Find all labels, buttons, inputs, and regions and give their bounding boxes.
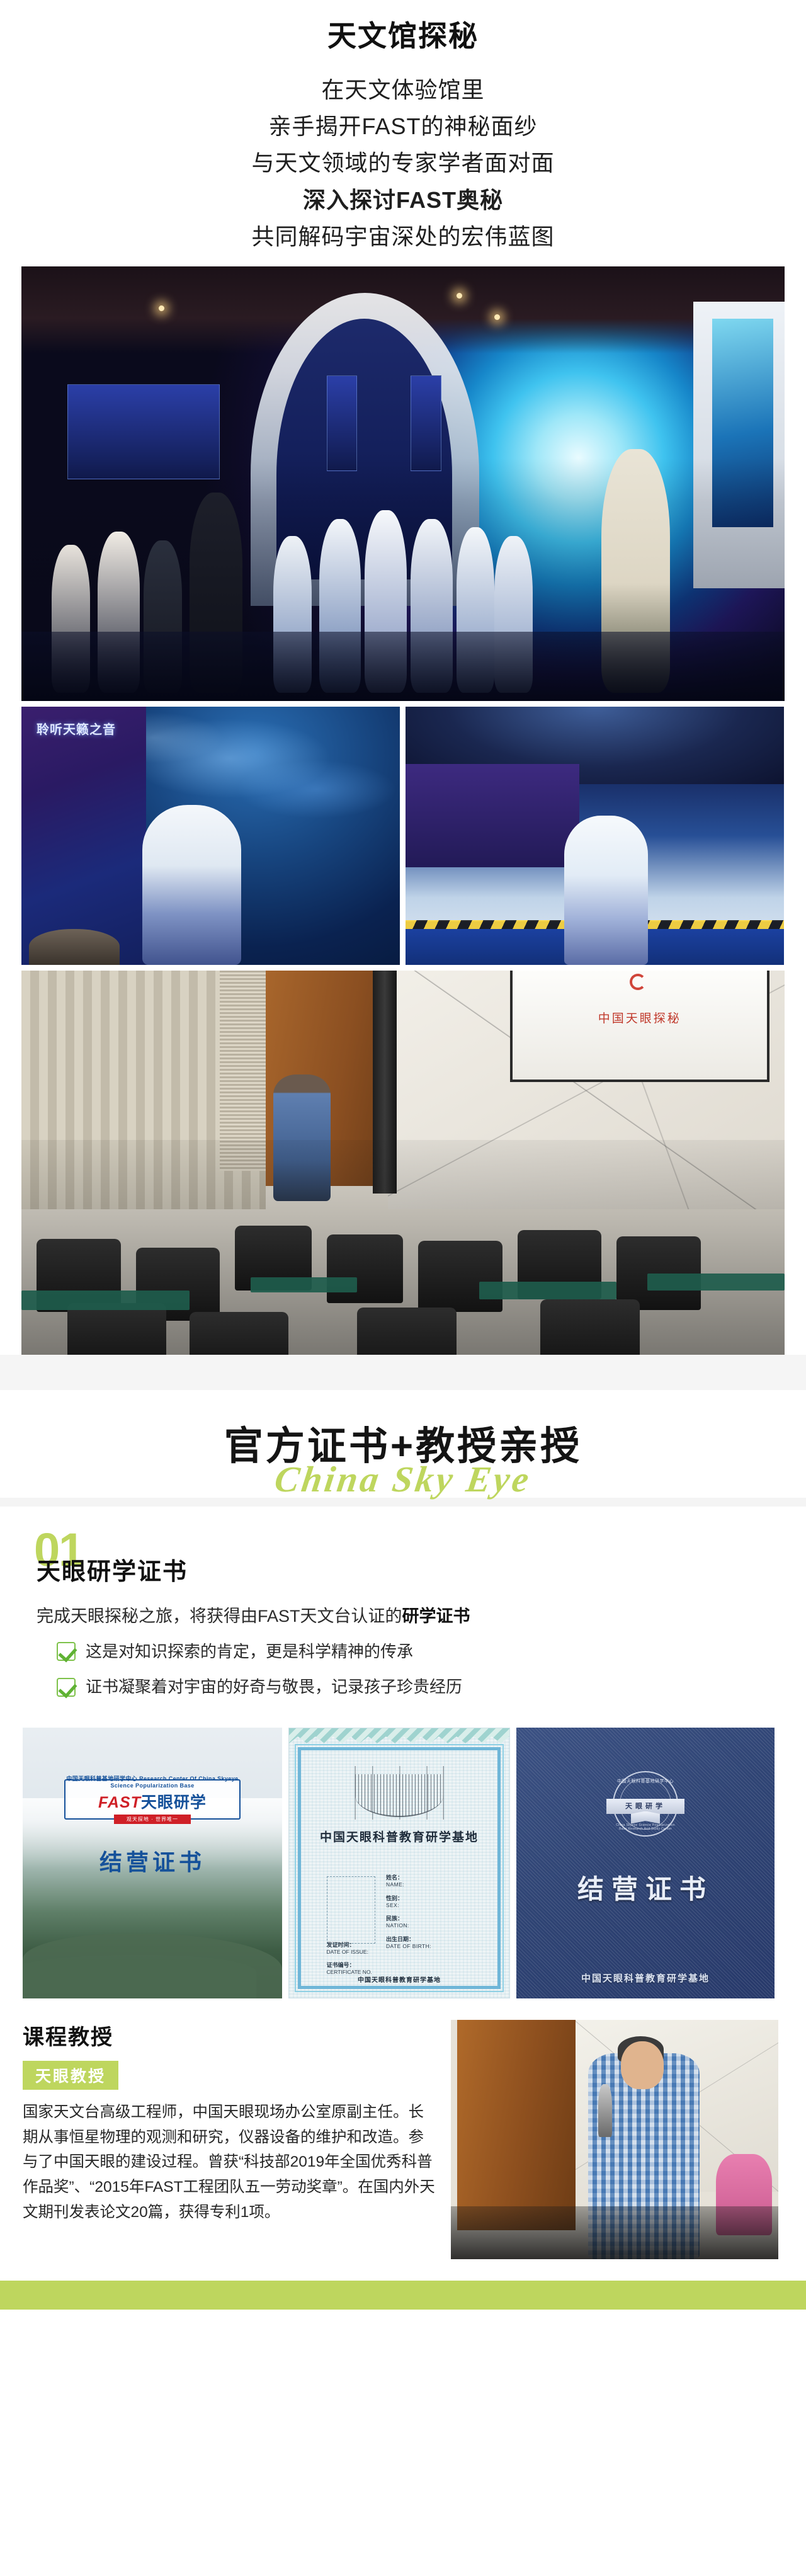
fast-logo: 中国天眼科普基地研学中心 Research Center Of China Sk… bbox=[64, 1779, 241, 1820]
photo-headphone-boy: 聆听天籁之音 bbox=[21, 707, 400, 965]
field-label-en: DATE OF ISSUE: bbox=[327, 1949, 372, 1956]
seat bbox=[190, 1312, 289, 1355]
photo-professor bbox=[451, 2020, 778, 2259]
logo-main-text: FAST天眼研学 bbox=[65, 1790, 239, 1813]
banner-text: 聆听天籁之音 bbox=[37, 722, 135, 738]
paper-texture bbox=[516, 1728, 775, 1998]
purple-wall bbox=[406, 764, 579, 867]
field-row: 证书编号： CERTIFICATE NO. bbox=[327, 1961, 372, 1976]
field-label-en: DATE OF BIRTH: bbox=[386, 1943, 431, 1950]
certificate-title: 结营证书 bbox=[516, 1868, 775, 1906]
promo-page: 天文馆探秘 在天文体验馆里 亲手揭开FAST的神秘面纱 与天文领域的专家学者面对… bbox=[0, 0, 806, 2310]
field-row: 出生日期： DATE OF BIRTH: bbox=[386, 1935, 431, 1951]
hero-line-5: 共同解码宇宙深处的宏伟蓝图 bbox=[0, 219, 806, 255]
field-label-cn: 性别： bbox=[386, 1895, 431, 1902]
professor-bio: 国家天文台高级工程师，中国天眼现场办公室原副主任。长期从事恒星物理的观测和研究，… bbox=[23, 2100, 438, 2225]
section-title-block: China Sky Eye 官方证书+教授亲授 bbox=[0, 1390, 806, 1497]
bullet-list: 这是对知识探索的肯定，更是科学精神的传承 证书凝聚着对宇宙的好奇与敬畏，记录孩子… bbox=[57, 1640, 783, 1699]
photo-exhibition-hall bbox=[406, 707, 784, 965]
hero-line-2: 亲手揭开FAST的神秘面纱 bbox=[0, 108, 806, 145]
hero-section: 天文馆探秘 在天文体验馆里 亲手揭开FAST的神秘面纱 与天文领域的专家学者面对… bbox=[0, 0, 806, 266]
status-badge: 天眼教授 bbox=[23, 2061, 118, 2090]
microphone-icon bbox=[598, 2084, 612, 2137]
wood-wall-panel bbox=[457, 2020, 575, 2230]
skyeye-emblem-icon: 中国天眼科普基地研学中心 天眼研学 China Skyeye Science P… bbox=[613, 1771, 678, 1837]
bullet-text: 这是对知识探索的肯定，更是科学精神的传承 bbox=[86, 1640, 413, 1663]
certificate-cover-aerial: 中国天眼科普基地研学中心 Research Center Of China Sk… bbox=[23, 1728, 282, 1998]
block-certificate: 01 天眼研学证书 完成天眼探秘之旅，将获得由FAST天文台认证的研学证书 这是… bbox=[0, 1529, 806, 1699]
check-icon bbox=[57, 1678, 76, 1697]
certificate-footer: 中国天眼科普教育研学基地 bbox=[289, 1975, 509, 1984]
field-label-en: SEX: bbox=[386, 1902, 431, 1909]
field-row: 发证时间： DATE OF ISSUE: bbox=[327, 1941, 372, 1956]
list-item: 证书凝聚着对宇宙的好奇与敬畏，记录孩子珍贵经历 bbox=[57, 1675, 783, 1698]
desk-cloth bbox=[647, 1274, 785, 1291]
lead-prefix: 完成天眼探秘之旅，将获得由FAST天文台认证的 bbox=[37, 1607, 402, 1626]
certificate-inner-page: 中国天眼科普教育研学基地 姓名： NAME: 性别： SEX: 民族： NATI… bbox=[288, 1728, 510, 1998]
photo-placeholder-box bbox=[327, 1876, 375, 1944]
lead-strong: 研学证书 bbox=[402, 1607, 470, 1626]
seat bbox=[540, 1299, 640, 1355]
desk-cloth bbox=[479, 1282, 616, 1299]
slide-logo-icon bbox=[630, 974, 646, 990]
projector-screen: 中国天眼探秘 bbox=[510, 971, 769, 1082]
certificate-cover-navy: 中国天眼科普基地研学中心 天眼研学 China Skyeye Science P… bbox=[516, 1728, 775, 1998]
audience-seating bbox=[451, 2206, 778, 2259]
photo-collage: 聆听天籁之音 中国天眼探秘 bbox=[0, 266, 806, 1355]
hero-line-3: 与天文领域的专家学者面对面 bbox=[0, 145, 806, 181]
mountain-ridge bbox=[23, 1955, 256, 1998]
logo-top-text: 中国天眼科普基地研学中心 Research Center Of China Sk… bbox=[65, 1774, 239, 1789]
certificate-title: 中国天眼科普教育研学基地 bbox=[289, 1828, 509, 1845]
reflective-floor bbox=[21, 632, 785, 701]
field-label-cn: 出生日期： bbox=[386, 1935, 431, 1943]
child-with-headphones bbox=[564, 816, 647, 966]
block-heading: 01 天眼研学证书 bbox=[23, 1529, 783, 1587]
certificate-gallery: 中国天眼科普基地研学中心 Research Center Of China Sk… bbox=[0, 1711, 806, 1998]
seat bbox=[67, 1303, 167, 1355]
seat bbox=[357, 1308, 457, 1355]
section-divider bbox=[0, 1355, 806, 1390]
professor-heading: 课程教授 bbox=[23, 2020, 438, 2051]
field-label-cn: 发证时间： bbox=[327, 1941, 372, 1949]
bottom-accent-band bbox=[0, 2281, 806, 2310]
professor-text-column: 课程教授 天眼教授 国家天文台高级工程师，中国天眼现场办公室原副主任。长期从事恒… bbox=[23, 2020, 438, 2259]
exhibit-banner-wall bbox=[21, 707, 146, 965]
photo-lecture-hall: 中国天眼探秘 bbox=[21, 971, 785, 1355]
list-item: 这是对知识探索的肯定，更是科学精神的传承 bbox=[57, 1640, 783, 1663]
block-lead: 完成天眼探秘之旅，将获得由FAST天文台认证的研学证书 bbox=[37, 1604, 783, 1629]
field-list: 姓名： NAME: 性别： SEX: 民族： NATION: 出生日期： DAT… bbox=[386, 1874, 431, 1956]
fast-dish-illustration bbox=[355, 1774, 443, 1817]
desk-cloth bbox=[21, 1291, 190, 1310]
field-label-en: NAME: bbox=[386, 1881, 431, 1888]
hero-line-4: 深入探讨FAST奥秘 bbox=[0, 182, 806, 219]
field-row: 性别： SEX: bbox=[386, 1895, 431, 1910]
certificate-title: 结营证书 bbox=[23, 1844, 282, 1877]
bullet-text: 证书凝聚着对宇宙的好奇与敬畏，记录孩子珍贵经历 bbox=[86, 1675, 462, 1698]
certificate-footer: 中国天眼科普教育研学基地 bbox=[516, 1971, 775, 1985]
professor-head bbox=[621, 2041, 664, 2089]
field-row: 民族： NATION: bbox=[386, 1915, 431, 1930]
foreground-rock bbox=[29, 929, 120, 965]
exhibit-panel bbox=[327, 375, 357, 471]
section-title: 官方证书+教授亲授 bbox=[0, 1425, 806, 1468]
professor-section: 课程教授 天眼教授 国家天文台高级工程师，中国天眼现场办公室原副主任。长期从事恒… bbox=[0, 1998, 806, 2259]
logo-cn-text: 天眼研学 bbox=[141, 1794, 207, 1811]
photo-row: 聆听天籁之音 bbox=[21, 707, 785, 965]
audience-seating bbox=[21, 1140, 785, 1355]
field-row: 姓名： NAME: bbox=[386, 1874, 431, 1889]
child-with-headphones bbox=[142, 805, 241, 965]
slide-title: 中国天眼探秘 bbox=[513, 1009, 767, 1026]
hero-line-1: 在天文体验馆里 bbox=[0, 72, 806, 108]
block-heading-label: 天眼研学证书 bbox=[37, 1552, 188, 1587]
logo-fast-text: FAST bbox=[98, 1794, 141, 1811]
emblem-arc-cn: 中国天眼科普基地研学中心 bbox=[614, 1778, 677, 1784]
field-label-cn: 民族： bbox=[386, 1915, 431, 1922]
field-label-cn: 姓名： bbox=[386, 1874, 431, 1881]
field-label-en: NATION: bbox=[386, 1922, 431, 1929]
desk-cloth bbox=[251, 1277, 358, 1292]
seat bbox=[418, 1241, 502, 1312]
photo-planetarium-dome bbox=[21, 266, 785, 701]
field-label-cn: 证书编号： bbox=[327, 1961, 372, 1969]
page-title: 天文馆探秘 bbox=[0, 18, 806, 55]
emblem-arc-en: China Skyeye Science Popularization Base… bbox=[614, 1823, 677, 1831]
seat bbox=[327, 1234, 403, 1303]
ceiling-spotlight bbox=[457, 293, 462, 299]
exhibit-panel bbox=[411, 375, 441, 471]
check-icon bbox=[57, 1642, 76, 1661]
logo-ribbon-text: 观天探地 · 世界唯一 bbox=[114, 1815, 191, 1824]
